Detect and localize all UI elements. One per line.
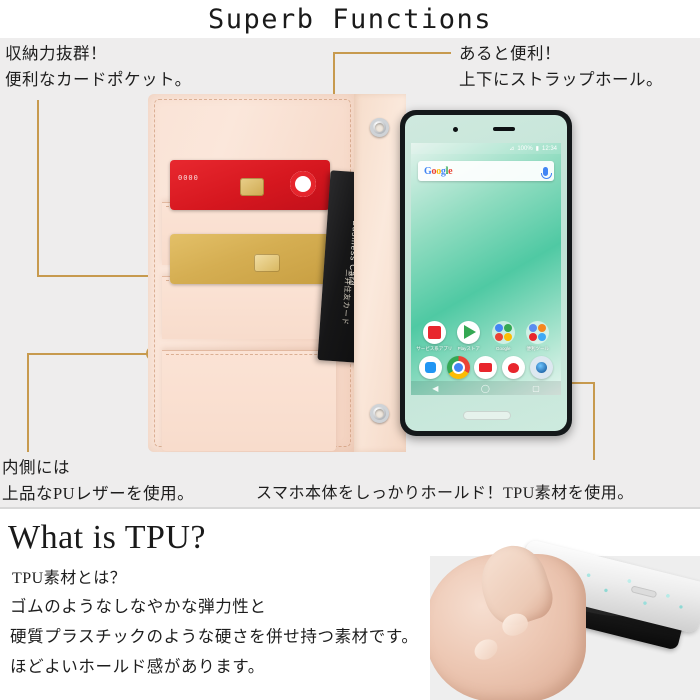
chrome-icon[interactable] (447, 356, 470, 379)
dock-row (417, 356, 555, 379)
leader-line-strap-horizontal (333, 52, 451, 54)
annotation-card-pocket-line1: 収納力抜群！ (5, 41, 192, 67)
battery-percent: 100% (517, 146, 532, 152)
smartphone: ⊿ 100% ▮ 12:34 Google (400, 110, 572, 436)
tpu-heading: What is TPU? (8, 518, 206, 558)
home-nav-icon[interactable]: ◯ (481, 384, 490, 393)
product-photo-wallet-case: 0000 Business Card 三井住友カード (148, 94, 566, 454)
phone-body: ⊿ 100% ▮ 12:34 Google (405, 115, 567, 431)
app-label: 便利ツール (527, 346, 550, 352)
wallet-flap-pu-leather: 0000 Business Card 三井住友カード (148, 94, 356, 452)
red-credit-card: 0000 (170, 160, 330, 210)
heart-icon[interactable] (502, 356, 525, 379)
status-bar: ⊿ 100% ▮ 12:34 (411, 143, 561, 154)
tools-folder-icon[interactable] (526, 321, 549, 344)
app-item[interactable]: 便利ツール (523, 321, 553, 352)
leader-line-card-pocket-vertical (37, 100, 39, 277)
earpiece-speaker (493, 127, 515, 131)
recents-nav-icon[interactable]: ▢ (532, 384, 540, 393)
app-label: Google (496, 346, 511, 351)
annotation-inner-leather: 内側には 上品なPUレザーを使用。 (2, 455, 194, 507)
camera-icon[interactable] (530, 356, 553, 379)
messages-icon[interactable] (474, 356, 497, 379)
app-item[interactable]: Playストア (454, 321, 484, 352)
mic-icon[interactable] (543, 167, 548, 176)
home-button[interactable] (463, 411, 511, 420)
navigation-bar: ◀ ◯ ▢ (411, 381, 561, 395)
wallet-spine-panel (354, 94, 406, 452)
hand-holding-tpu-case-photo (430, 528, 700, 700)
tpu-body-line3: ほどよいホールド感があります。 (10, 652, 430, 682)
battery-icon: ▮ (536, 145, 539, 152)
annotation-strap-hole-line2: 上下にストラップホール。 (459, 67, 663, 93)
phone-screen: ⊿ 100% ▮ 12:34 Google (411, 143, 561, 395)
tpu-body-line1: ゴムのようなしなやかな弾力性と (10, 592, 430, 622)
strap-hole-top-icon (370, 118, 389, 137)
signal-icon: ⊿ (509, 145, 514, 152)
google-search-bar[interactable]: Google (418, 161, 554, 181)
card-chip-icon (254, 254, 280, 272)
strap-hole-bottom-icon (370, 404, 389, 423)
app-label: Playストア (458, 346, 480, 352)
play-store-icon[interactable] (457, 321, 480, 344)
red-card-number: 0000 (178, 174, 199, 182)
red-app-icon[interactable] (423, 321, 446, 344)
gold-credit-card (170, 234, 330, 284)
annotation-tpu-hold: スマホ本体をしっかりホールド！TPU素材を使用。 (256, 481, 634, 507)
annotation-strap-hole: あると便利！ 上下にストラップホール。 (459, 41, 663, 93)
card-logo-icon (290, 171, 316, 197)
clock: 12:34 (542, 146, 557, 152)
page-title: Superb Functions (0, 2, 700, 38)
annotation-card-pocket: 収納力抜群！ 便利なカードポケット。 (5, 41, 192, 93)
back-nav-icon[interactable]: ◀ (432, 384, 438, 393)
app-item[interactable]: サービス系アプリ (419, 321, 449, 352)
tpu-body-line2: 硬質プラスチックのような硬さを併せ持つ素材です。 (10, 622, 430, 652)
google-logo: Google (424, 166, 452, 177)
leader-line-inner-vertical (27, 353, 29, 452)
annotation-inner-leather-line2: 上品なPUレザーを使用。 (2, 481, 194, 507)
tpu-body-text: ゴムのようなしなやかな弾力性と 硬質プラスチックのような硬さを併せ持つ素材です。… (10, 592, 430, 682)
front-camera-icon (453, 127, 458, 132)
app-row: サービス系アプリ Playストア (417, 321, 555, 352)
app-item[interactable]: Google (488, 321, 518, 351)
leader-line-tpu-vertical (593, 382, 595, 460)
infographic-page: Superb Functions 収納力抜群！ 便利なカードポケット。 あると便… (0, 0, 700, 700)
card-pocket-2 (162, 276, 336, 339)
phone-icon[interactable] (419, 356, 442, 379)
annotation-strap-hole-line1: あると便利！ (459, 41, 663, 67)
app-label: サービス系アプリ (416, 346, 452, 352)
card-chip-icon (240, 178, 264, 196)
leader-line-inner-horizontal (27, 353, 153, 355)
tpu-subheading: TPU素材とは？ (12, 564, 126, 588)
tpu-explanation-section: What is TPU? TPU素材とは？ ゴムのようなしなやかな弾力性と 硬質… (0, 509, 700, 700)
annotation-inner-leather-line1: 内側には (2, 455, 194, 481)
card-pocket-3 (162, 350, 336, 451)
google-folder-icon[interactable] (492, 321, 515, 344)
annotation-card-pocket-line2: 便利なカードポケット。 (5, 67, 192, 93)
features-section: Superb Functions 収納力抜群！ 便利なカードポケット。 あると便… (0, 0, 700, 508)
